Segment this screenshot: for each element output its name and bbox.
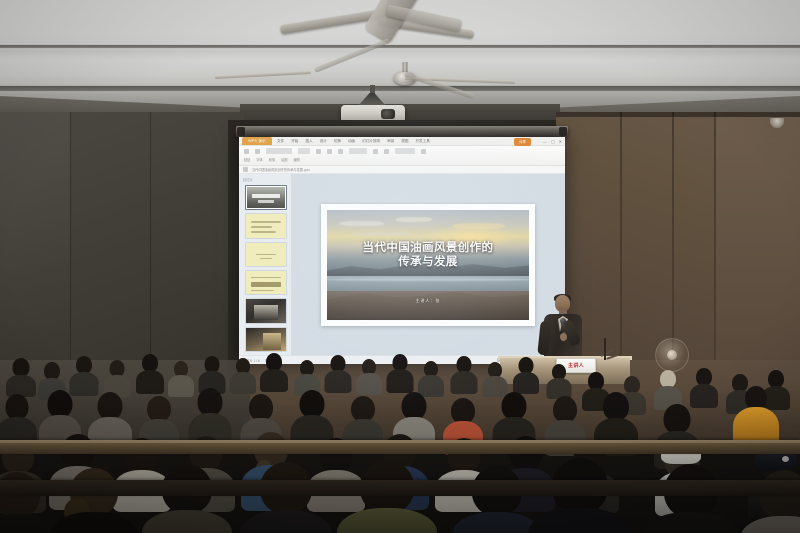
audience-person bbox=[105, 360, 129, 388]
slide-subtitle: 主讲人：张 bbox=[327, 298, 529, 304]
audience-person bbox=[150, 464, 224, 533]
ribbon-row-bottom: 粘贴 字体 段落 绘图 编辑 bbox=[244, 157, 560, 162]
document-filename: 当代中国油画风景创作的传承与发展.pptx bbox=[252, 167, 310, 172]
maximize-icon[interactable]: ▢ bbox=[551, 139, 555, 144]
roller-cap bbox=[559, 127, 567, 136]
audience-person bbox=[548, 364, 570, 390]
fan-blade bbox=[404, 72, 474, 99]
paste-icon[interactable] bbox=[244, 149, 249, 154]
audience-person bbox=[0, 394, 34, 440]
audience-person bbox=[296, 360, 318, 387]
slide-thumbnail-3[interactable]: 3 bbox=[245, 242, 287, 267]
breadcrumb: 当代中国油画风景创作的传承与发展.pptx bbox=[239, 166, 565, 174]
ribbon-group-label-drawing: 绘图 bbox=[281, 157, 287, 162]
slide-thumbnail-5[interactable]: 5 bbox=[245, 298, 287, 323]
audience-person bbox=[346, 396, 380, 442]
audience-person bbox=[652, 464, 730, 533]
roller-cap bbox=[237, 127, 245, 136]
menu-item-insert[interactable]: 插入 bbox=[305, 139, 312, 144]
presenter-hand bbox=[560, 333, 567, 341]
audience-person bbox=[8, 358, 34, 388]
slide-thumbnail-2[interactable]: 2 bbox=[245, 213, 287, 238]
audience-person bbox=[40, 362, 64, 390]
find-icon[interactable] bbox=[421, 149, 426, 154]
audience-person bbox=[358, 359, 380, 386]
ppt-body: 幻灯片 1 2 3 bbox=[239, 174, 565, 355]
audience-person bbox=[692, 368, 716, 398]
lecture-hall-photo: WPS 演示 文件 开始 插入 设计 切换 动画 幻灯片放映 审阅 视图 开发工… bbox=[0, 0, 800, 533]
desk-row bbox=[0, 440, 800, 454]
menu-item-slideshow[interactable]: 幻灯片放映 bbox=[362, 139, 380, 144]
menu-item-transitions[interactable]: 切换 bbox=[334, 139, 341, 144]
screen-surface: WPS 演示 文件 开始 插入 设计 切换 动画 幻灯片放映 审阅 视图 开发工… bbox=[239, 137, 565, 364]
audience-person bbox=[598, 392, 634, 444]
font-family-select[interactable] bbox=[266, 148, 292, 154]
audience bbox=[0, 352, 800, 533]
cap-logo-icon bbox=[782, 456, 789, 462]
projector-lens-icon bbox=[381, 109, 395, 119]
paragraph-group[interactable] bbox=[349, 148, 367, 154]
thumbnail-image bbox=[263, 333, 281, 350]
sidebar-header: 幻灯片 bbox=[241, 177, 289, 182]
menu-item-animations[interactable]: 动画 bbox=[348, 139, 355, 144]
desk-edge bbox=[0, 440, 800, 443]
audience-person bbox=[72, 356, 96, 386]
menu-item-home[interactable]: 开始 bbox=[291, 139, 298, 144]
audience-person bbox=[452, 356, 476, 385]
audience-person bbox=[460, 466, 534, 533]
menu-item-design[interactable]: 设计 bbox=[320, 139, 327, 144]
audience-person bbox=[170, 361, 192, 388]
slide-background-painting: 当代中国油画风景创作的 传承与发展 主讲人：张 bbox=[327, 210, 529, 320]
audience-person bbox=[496, 392, 532, 442]
menu-item-devtools[interactable]: 开发工具 bbox=[415, 139, 429, 144]
orange-jacket-person bbox=[736, 386, 776, 444]
audience-person bbox=[262, 353, 286, 383]
ribbon-row-top bbox=[244, 148, 560, 154]
close-icon[interactable]: ✕ bbox=[559, 139, 562, 144]
audience-person bbox=[656, 370, 680, 400]
current-slide[interactable]: 当代中国油画风景创作的 传承与发展 主讲人：张 bbox=[321, 204, 535, 326]
ribbon-group-label-paste: 粘贴 bbox=[244, 157, 250, 162]
audience-person bbox=[294, 390, 330, 442]
audience-person bbox=[192, 388, 228, 440]
ppt-menubar: 文件 开始 插入 设计 切换 动画 幻灯片放映 审阅 视图 开发工具 bbox=[277, 139, 430, 144]
audience-person bbox=[388, 354, 412, 384]
minimize-icon[interactable]: — bbox=[543, 139, 547, 144]
share-button[interactable]: 分享 bbox=[514, 138, 531, 146]
font-size-select[interactable] bbox=[298, 148, 310, 154]
ppt-ribbon: 粘贴 字体 段落 绘图 编辑 bbox=[239, 146, 565, 166]
audience-person bbox=[142, 396, 176, 442]
thumbnail-image bbox=[254, 305, 278, 320]
window-controls: — ▢ ✕ bbox=[543, 139, 562, 144]
audience-person bbox=[232, 358, 254, 386]
powerpoint-window: WPS 演示 文件 开始 插入 设计 切换 动画 幻灯片放映 审阅 视图 开发工… bbox=[239, 137, 565, 364]
audience-person bbox=[484, 362, 506, 388]
audience-person bbox=[200, 356, 224, 386]
bold-icon[interactable] bbox=[316, 149, 321, 154]
menu-item-view[interactable]: 视图 bbox=[401, 139, 408, 144]
desk-row bbox=[0, 480, 800, 496]
menu-item-file[interactable]: 文件 bbox=[277, 139, 284, 144]
audience-person bbox=[248, 462, 324, 533]
audience-person bbox=[514, 357, 537, 385]
slide-title: 当代中国油画风景创作的 传承与发展 bbox=[327, 240, 529, 268]
ribbon-group-label-font: 字体 bbox=[256, 157, 262, 162]
shapes-group[interactable] bbox=[395, 148, 415, 154]
underline-icon[interactable] bbox=[338, 149, 343, 154]
slide-title-line1: 当代中国油画风景创作的 bbox=[327, 240, 529, 254]
align-left-icon[interactable] bbox=[373, 149, 378, 154]
slide-canvas-area[interactable]: 当代中国油画风景创作的 传承与发展 主讲人：张 bbox=[291, 174, 565, 355]
document-icon bbox=[243, 167, 248, 172]
audience-person bbox=[420, 361, 442, 388]
slide-title-line2: 传承与发展 bbox=[327, 254, 529, 268]
audience-person bbox=[326, 355, 350, 384]
cut-icon[interactable] bbox=[255, 149, 260, 154]
audience-person bbox=[58, 468, 130, 533]
olive-hoodie bbox=[337, 508, 437, 533]
ppt-tabbar: WPS 演示 文件 开始 插入 设计 切换 动画 幻灯片放映 审阅 视图 开发工… bbox=[239, 137, 565, 146]
ribbon-group-label-paragraph: 段落 bbox=[269, 157, 275, 162]
align-center-icon[interactable] bbox=[384, 149, 389, 154]
audience-person bbox=[138, 354, 162, 384]
ribbon-group-label-editing: 编辑 bbox=[294, 157, 300, 162]
menu-item-review[interactable]: 审阅 bbox=[387, 139, 394, 144]
thumbnail-subtitle-bar bbox=[258, 200, 274, 203]
projection-screen: WPS 演示 文件 开始 插入 设计 切换 动画 幻灯片放映 审阅 视图 开发工… bbox=[236, 126, 568, 364]
audience-person bbox=[42, 390, 78, 440]
app-tab[interactable]: WPS 演示 bbox=[242, 137, 272, 145]
slide-thumbnail-4[interactable]: 4 bbox=[245, 270, 287, 295]
wall-trim bbox=[556, 112, 800, 117]
slide-thumbnail-6[interactable]: 6 bbox=[245, 327, 287, 352]
slide-thumbnail-panel[interactable]: 幻灯片 1 2 3 bbox=[239, 174, 291, 355]
ceiling-fan-icon bbox=[300, 0, 480, 60]
microphone-head-icon bbox=[560, 318, 566, 324]
thumbnail-title-bar bbox=[252, 194, 280, 198]
slide-thumbnail-1[interactable]: 1 bbox=[245, 185, 287, 210]
olive-hoodie-person bbox=[348, 460, 426, 533]
audience-person bbox=[548, 396, 582, 444]
screen-roller bbox=[236, 126, 568, 137]
italic-icon[interactable] bbox=[327, 149, 332, 154]
